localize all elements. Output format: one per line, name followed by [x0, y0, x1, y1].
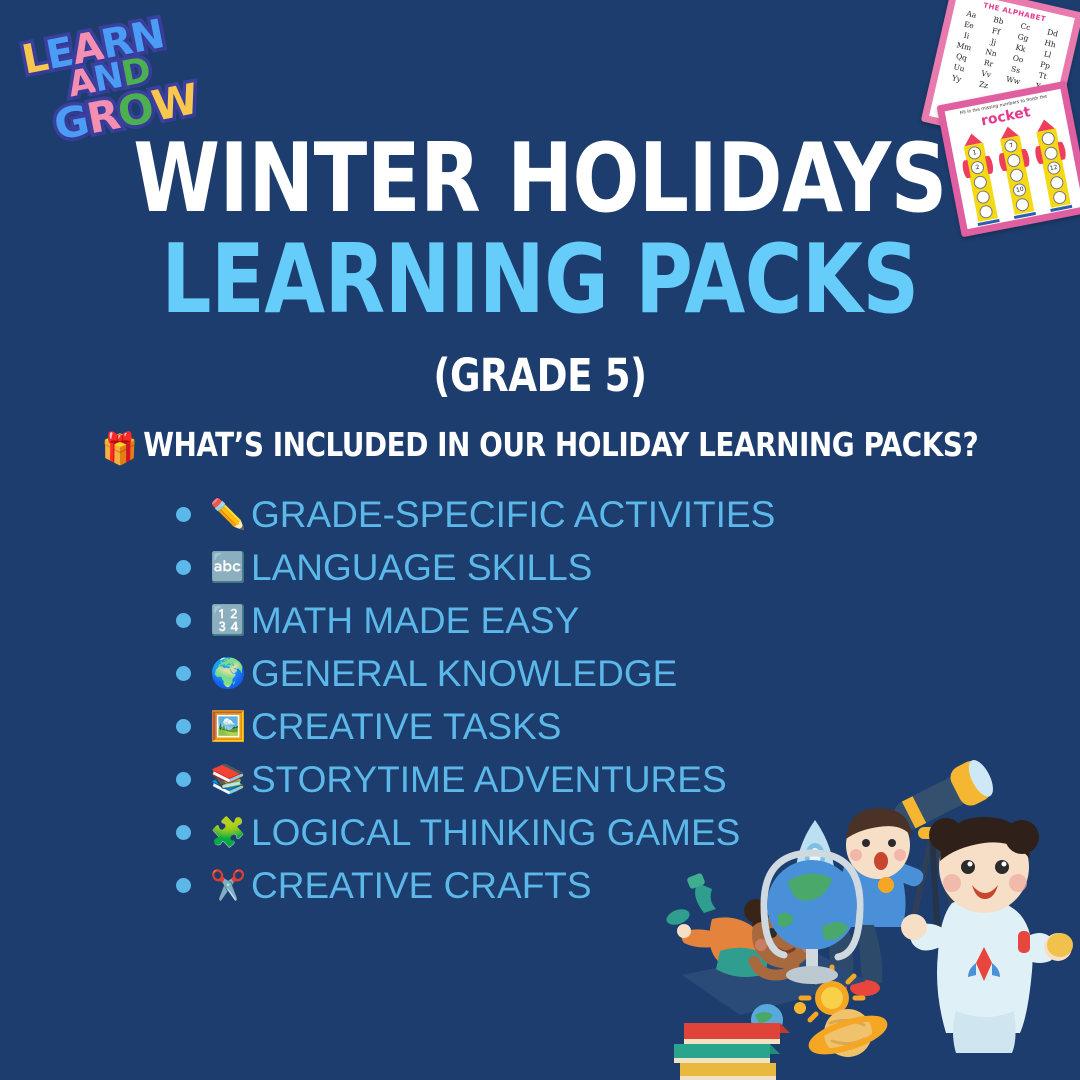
rocket-column: 12	[1031, 117, 1074, 212]
rocket-body: 12	[1037, 128, 1071, 207]
headline-line-2: LEARNING PACKS	[43, 232, 1037, 328]
rocket-body: 12	[963, 142, 997, 221]
rocket-number-cell: 7	[1004, 138, 1019, 153]
bullet-dot	[176, 507, 191, 522]
rocket-body: 710	[1000, 135, 1034, 214]
feature-item: ✏️GRADE-SPECIFIC ACTIVITIES	[176, 488, 996, 541]
small-planet	[794, 1002, 806, 1014]
rocket-number-cell	[976, 189, 991, 204]
rocket-number-cell	[1049, 175, 1064, 190]
poster-canvas: LEARN AND GROW WINTER HOLIDAYS LEARNING …	[0, 0, 1080, 1080]
books-stack-icon	[674, 1023, 790, 1080]
grade-label: (GRADE 5)	[43, 352, 1037, 400]
rocket-number-cell	[973, 174, 988, 189]
bullet-dot	[176, 613, 191, 628]
logo-letter: W	[149, 78, 202, 128]
feature-item: 🌍GENERAL KNOWLEDGE	[176, 647, 996, 700]
rocket-number-cell	[1040, 131, 1055, 146]
rocket-number-cell	[1052, 190, 1067, 205]
bullet-dot	[176, 666, 191, 681]
books-icon: 📚	[209, 765, 247, 794]
rocket-column: 710	[995, 124, 1038, 219]
question-heading: 🎁WHAT’S INCLUDED IN OUR HOLIDAY LEARNING…	[32, 425, 1047, 469]
bullet-dot	[176, 560, 191, 575]
rocket-columns: 1271012	[950, 115, 1080, 228]
rocket-number-cell	[1015, 197, 1030, 212]
rocket-number-cell: 10	[1012, 182, 1027, 197]
bullet-dot	[176, 825, 191, 840]
feature-label: STORYTIME ADVENTURES	[251, 760, 727, 800]
feature-label: MATH MADE EASY	[251, 601, 579, 641]
bullet-dot	[176, 878, 191, 893]
rocket-number-cell	[1043, 145, 1058, 160]
feature-label: LANGUAGE SKILLS	[251, 548, 592, 588]
rocket-number-cell	[1007, 152, 1022, 167]
headline-line-1: WINTER HOLIDAYS	[43, 131, 1037, 227]
globe-icon: 🌍	[209, 659, 247, 688]
bullet-dot	[176, 719, 191, 734]
question-text: WHAT’S INCLUDED IN OUR HOLIDAY LEARNING …	[143, 425, 978, 464]
feature-item: 🔤LANGUAGE SKILLS	[176, 541, 996, 594]
gift-icon: 🎁	[102, 431, 138, 467]
feature-label: GENERAL KNOWLEDGE	[251, 654, 677, 694]
rocket-column: 12	[958, 131, 1001, 226]
rocket-number-cell	[1009, 167, 1024, 182]
worksheet-card-rocket: Fill in the missing numbers to finish th…	[936, 81, 1080, 238]
feature-label: GRADE-SPECIFIC ACTIVITIES	[251, 495, 775, 535]
pencil-icon: ✏️	[209, 500, 247, 529]
feature-label: CREATIVE TASKS	[251, 707, 561, 747]
numbers-icon: 🔢	[209, 606, 247, 635]
rocket-number-cell	[979, 204, 994, 219]
feature-label: CREATIVE CRAFTS	[251, 866, 592, 906]
abc-icon: 🔤	[209, 553, 247, 582]
saturn-icon	[808, 1009, 888, 1058]
bullet-dot	[176, 772, 191, 787]
children-space-learning-illustration	[660, 735, 1080, 1080]
puzzle-piece-icon: 🧩	[209, 818, 247, 847]
feature-item: 🔢MATH MADE EASY	[176, 594, 996, 647]
rocket-number-cell: 1	[967, 145, 982, 160]
framed-picture-icon: 🖼️	[209, 712, 247, 741]
scissors-icon: ✂️	[209, 871, 247, 900]
rocket-number-cell: 2	[970, 160, 985, 175]
rocket-number-cell: 12	[1046, 160, 1061, 175]
